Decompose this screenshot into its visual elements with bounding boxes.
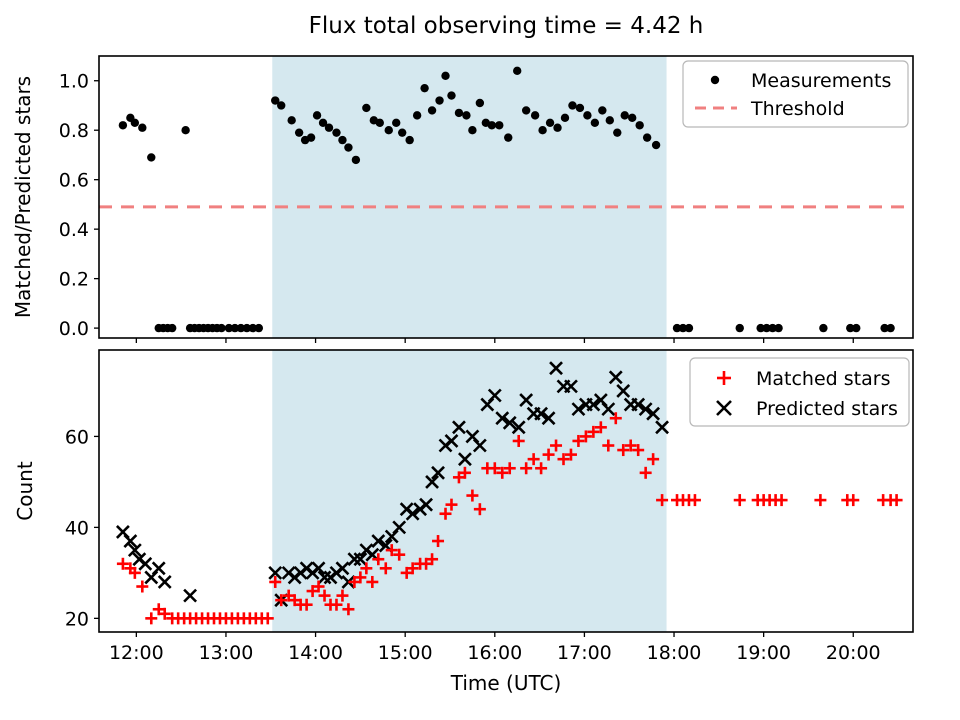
legend-label-matched-stars: Matched stars <box>756 368 890 390</box>
y-axis-label-top: Matched/Predicted stars <box>11 76 35 318</box>
data-point-measurement <box>352 156 360 164</box>
data-point-measurement <box>428 106 436 114</box>
data-point-measurement <box>711 76 719 84</box>
data-point-measurement <box>621 111 629 119</box>
data-point-measurement <box>886 324 894 332</box>
data-point-measurement <box>332 128 340 136</box>
y-tick-label-bottom: 40 <box>65 517 89 539</box>
y-tick-label-top: 1.0 <box>59 71 89 93</box>
data-point-measurement <box>476 99 484 107</box>
data-point-measurement <box>441 72 449 80</box>
data-point-measurement <box>613 128 621 136</box>
data-point-measurement <box>405 136 413 144</box>
data-point-measurement <box>538 126 546 134</box>
figure-container: 1.00.80.60.40.20.060402012:0013:0014:001… <box>0 0 960 720</box>
data-point-measurement <box>181 126 189 134</box>
data-point-measurement <box>413 111 421 119</box>
x-tick-label: 18:00 <box>647 642 702 664</box>
data-point-measurement <box>295 128 303 136</box>
data-point-measurement <box>495 121 503 129</box>
shaded-observation-window-bottom <box>272 350 666 632</box>
legend-label-threshold: Threshold <box>750 98 845 120</box>
data-point-measurement <box>138 124 146 132</box>
data-point-measurement <box>455 109 463 117</box>
data-point-measurement <box>147 153 155 161</box>
data-point-measurement <box>392 119 400 127</box>
y-tick-label-bottom: 60 <box>65 426 89 448</box>
data-point-measurement <box>447 91 455 99</box>
data-point-measurement <box>420 84 428 92</box>
legend-label-measurements: Measurements <box>751 70 891 92</box>
data-point-measurement <box>119 121 127 129</box>
data-point-measurement <box>643 133 651 141</box>
data-point-measurement <box>307 133 315 141</box>
x-tick-label: 20:00 <box>826 642 881 664</box>
data-point-measurement <box>635 121 643 129</box>
y-tick-label-bottom: 20 <box>65 608 89 630</box>
x-tick-label: 16:00 <box>467 642 522 664</box>
data-point-measurement <box>255 324 263 332</box>
data-point-measurement <box>488 121 496 129</box>
y-tick-label-top: 0.8 <box>59 120 89 142</box>
shaded-observation-window-top <box>272 56 666 338</box>
data-point-measurement <box>568 101 576 109</box>
data-point-measurement <box>591 119 599 127</box>
data-point-measurement <box>522 106 530 114</box>
y-tick-label-top: 0.2 <box>59 269 89 291</box>
y-tick-label-top: 0.4 <box>59 219 89 241</box>
x-tick-label: 14:00 <box>288 642 343 664</box>
data-point-measurement <box>583 111 591 119</box>
data-point-measurement <box>325 124 333 132</box>
data-point-measurement <box>513 67 521 75</box>
legend-label-predicted-stars: Predicted stars <box>756 398 898 420</box>
x-tick-label: 17:00 <box>557 642 612 664</box>
data-point-measurement <box>598 106 606 114</box>
data-point-measurement <box>468 126 476 134</box>
data-point-measurement <box>852 324 860 332</box>
data-point-measurement <box>385 126 393 134</box>
y-tick-label-top: 0.0 <box>59 318 89 340</box>
data-point-measurement <box>376 119 384 127</box>
data-point-measurement <box>504 133 512 141</box>
data-point-measurement <box>819 324 827 332</box>
data-point-measurement <box>652 141 660 149</box>
data-point-measurement <box>531 111 539 119</box>
chart-canvas: 1.00.80.60.40.20.060402012:0013:0014:001… <box>0 0 960 720</box>
y-tick-label-top: 0.6 <box>59 170 89 192</box>
x-tick-label: 19:00 <box>736 642 791 664</box>
x-axis-label: Time (UTC) <box>450 671 562 695</box>
x-tick-label: 13:00 <box>199 642 254 664</box>
data-point-measurement <box>774 324 782 332</box>
data-point-measurement <box>168 324 176 332</box>
data-point-measurement <box>344 143 352 151</box>
data-point-measurement <box>736 324 744 332</box>
data-point-measurement <box>576 104 584 112</box>
data-point-measurement <box>462 111 470 119</box>
figure-title: Flux total observing time = 4.42 h <box>309 13 704 39</box>
data-point-measurement <box>546 119 554 127</box>
data-point-measurement <box>338 136 346 144</box>
data-point-measurement <box>435 96 443 104</box>
data-point-measurement <box>362 104 370 112</box>
x-tick-label: 12:00 <box>109 642 164 664</box>
data-point-measurement <box>131 119 139 127</box>
data-point-measurement <box>553 124 561 132</box>
data-point-measurement <box>287 116 295 124</box>
data-point-measurement <box>217 324 225 332</box>
data-point-measurement <box>313 111 321 119</box>
data-point-measurement <box>561 114 569 122</box>
data-point-measurement <box>685 324 693 332</box>
y-axis-label-bottom: Count <box>13 461 37 521</box>
data-point-measurement <box>606 116 614 124</box>
data-point-measurement <box>628 114 636 122</box>
data-point-measurement <box>277 101 285 109</box>
data-point-measurement <box>398 128 406 136</box>
x-tick-label: 15:00 <box>378 642 433 664</box>
